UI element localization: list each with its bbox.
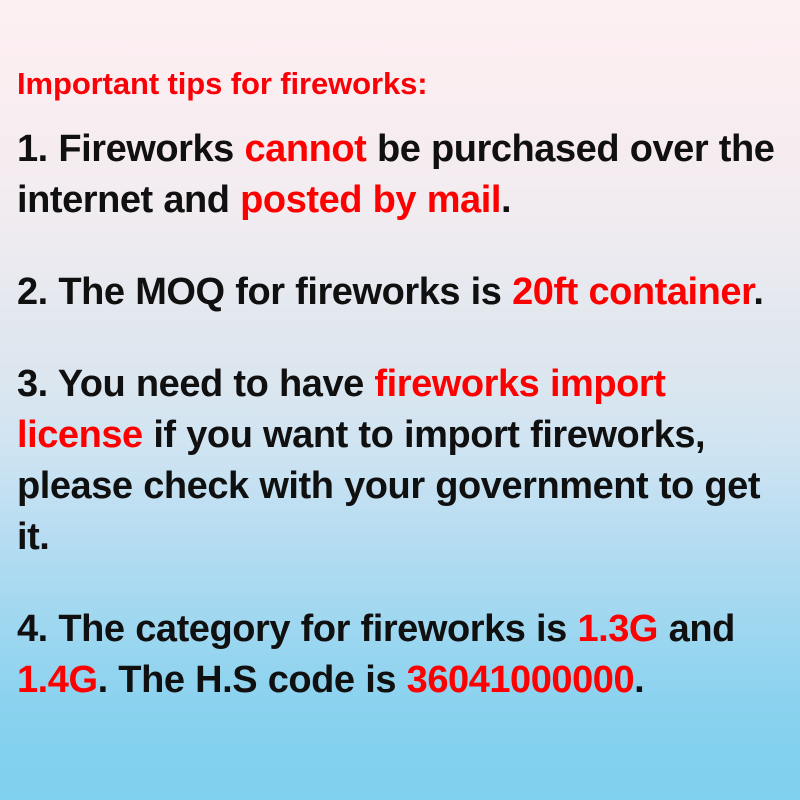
tip-4-segment-7: . [634,659,644,701]
tip-item-3: 3. You need to have fireworks import lic… [17,359,777,563]
tip-1-segment-2-highlight: cannot [244,128,366,170]
tip-3-segment-1: 3. You need to have [17,363,374,405]
fireworks-tips-poster: Important tips for fireworks: 1. Firewor… [0,0,800,800]
tip-2-segment-1: 2. The MOQ for fireworks is [17,271,512,313]
tip-1-segment-4-highlight: posted by mail [240,179,501,221]
tip-item-1: 1. Fireworks cannot be purchased over th… [17,124,777,226]
tip-1-segment-1: 1. Fireworks [17,128,244,170]
content-container: Important tips for fireworks: 1. Firewor… [17,64,777,706]
tip-4-segment-3: and [658,608,745,650]
tip-4-segment-6-highlight: 36041000000 [407,659,635,701]
tip-4-segment-5: . The H.S code is [98,659,407,701]
tip-2-segment-3: . [753,271,763,313]
page-title: Important tips for fireworks: [17,64,777,104]
tip-item-4: 4. The category for fireworks is 1.3G an… [17,604,777,706]
tip-2-segment-2-highlight: 20ft container [512,271,753,313]
tip-4-segment-1: 4. The category for fireworks is [17,608,577,650]
tip-item-2: 2. The MOQ for fireworks is 20ft contain… [17,267,777,318]
tip-4-segment-2-highlight: 1.3G [577,608,658,650]
tip-1-segment-5: . [501,179,511,221]
tip-4-segment-4-highlight: 1.4G [17,659,98,701]
